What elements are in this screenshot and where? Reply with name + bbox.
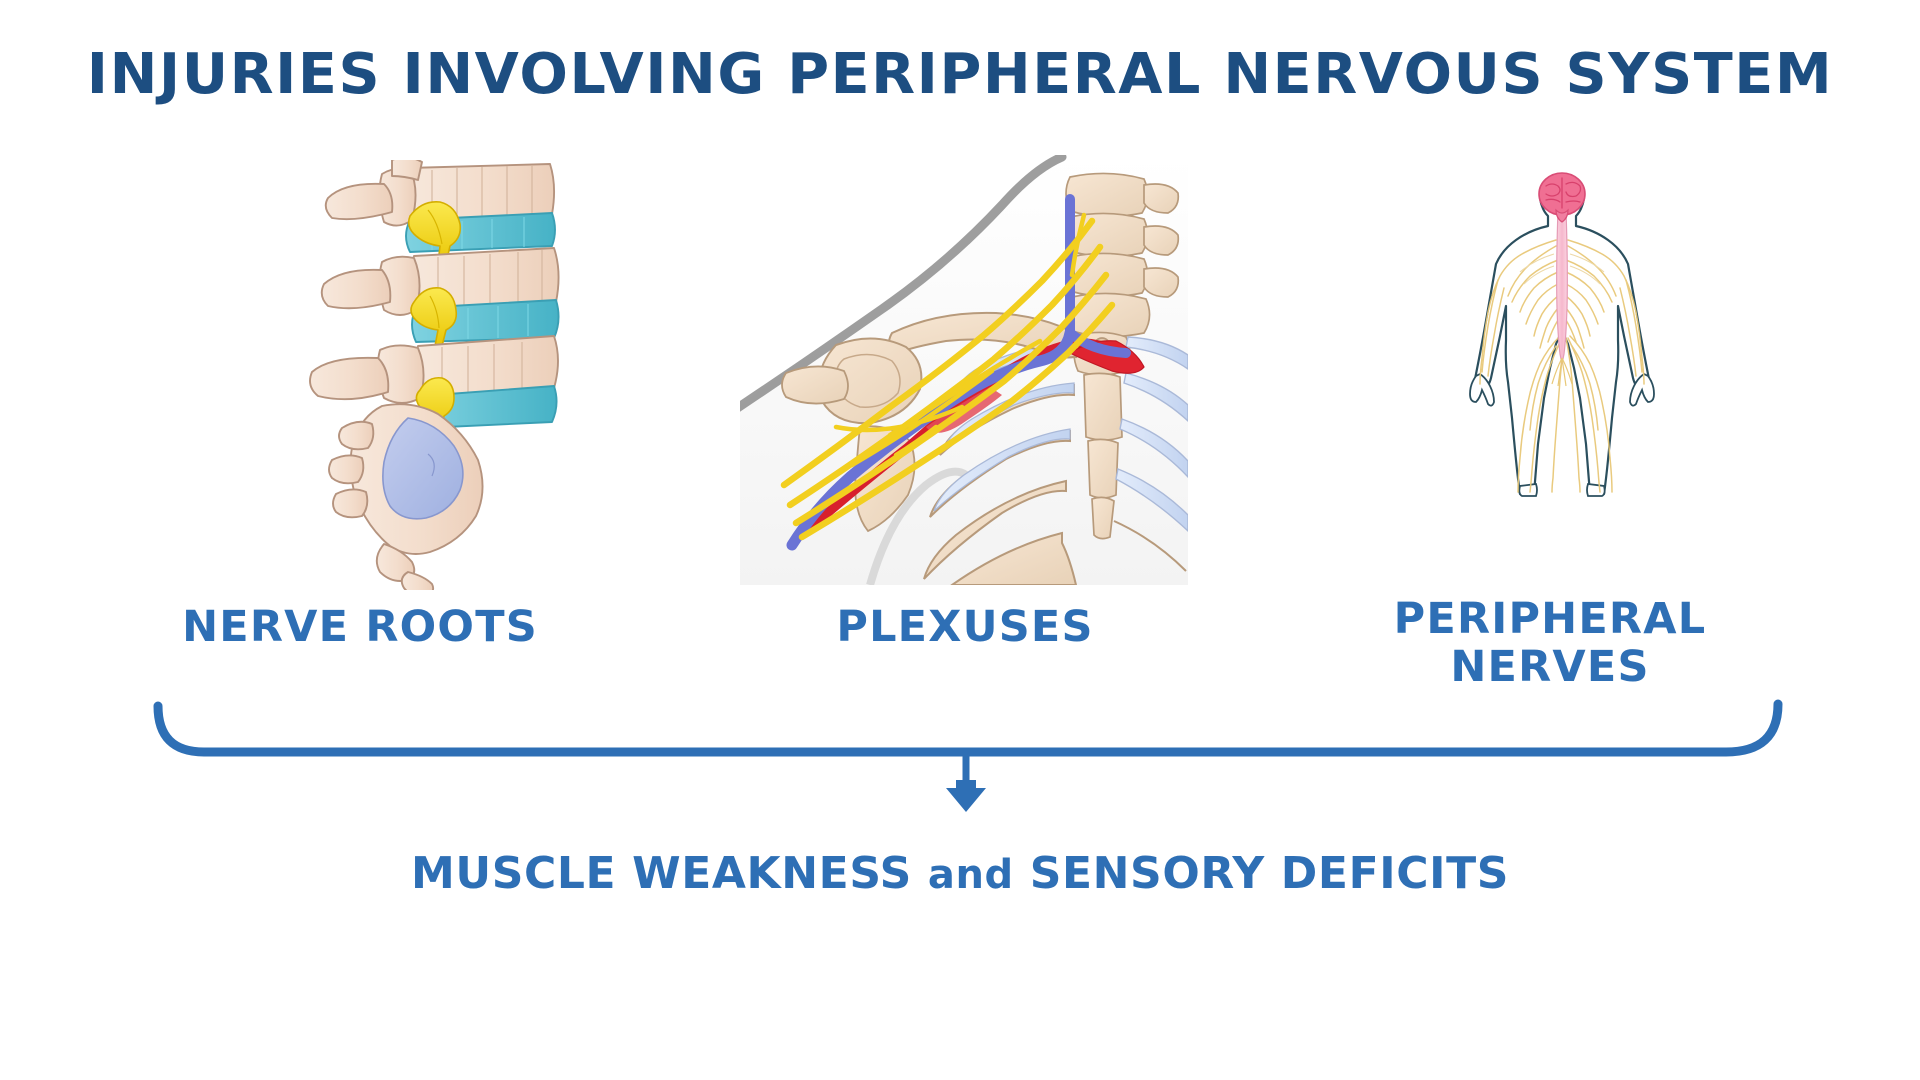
- outcome-part-2: SENSORY DEFICITS: [1030, 848, 1509, 899]
- outcome-conjunction: and: [928, 852, 1014, 898]
- spinal-cord: [1557, 210, 1568, 364]
- nerve-roots-illustration: [232, 160, 562, 590]
- plexus-illustration-frame: [740, 155, 1188, 585]
- panel-label-peripheral-nerves: PERIPHERAL NERVES: [1370, 595, 1730, 691]
- panel-label-plexuses: PLEXUSES: [770, 603, 1160, 651]
- panel-label-line-2: NERVES: [1370, 643, 1730, 691]
- panel-label-line-1: PERIPHERAL: [1370, 595, 1730, 643]
- page-title: INJURIES INVOLVING PERIPHERAL NERVOUS SY…: [0, 42, 1920, 107]
- brace-line: [158, 704, 1778, 752]
- outcome-text: MUSCLE WEAKNESS and SENSORY DEFICITS: [0, 848, 1920, 899]
- outcome-part-1: MUSCLE WEAKNESS: [411, 848, 912, 899]
- peripheral-nerves-illustration: [1468, 168, 1656, 498]
- plexuses-illustration: [740, 155, 1188, 585]
- panel-label-nerve-roots: NERVE ROOTS: [130, 603, 590, 651]
- arrow-head-icon: [946, 780, 986, 812]
- brace-connector: [130, 690, 1830, 830]
